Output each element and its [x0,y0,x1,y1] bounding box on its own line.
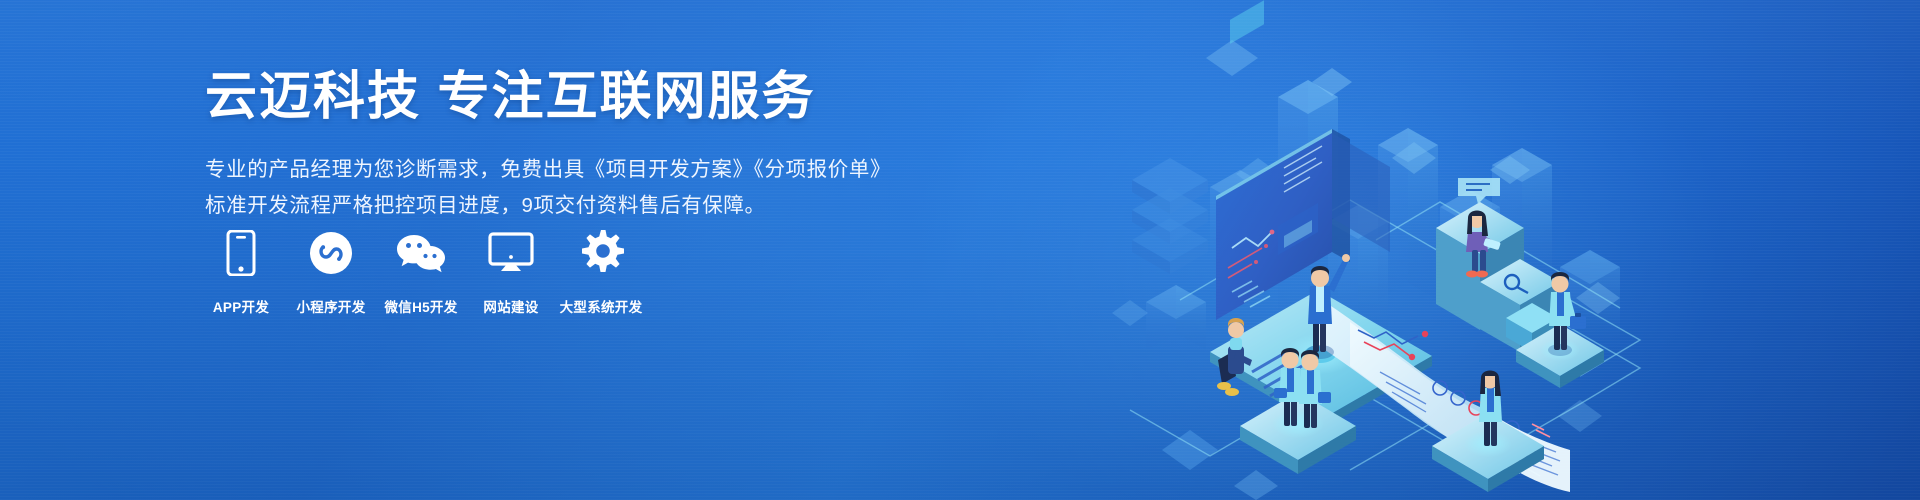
service-list: APP开发 小程序开发 [205,228,637,316]
service-item-large-system[interactable]: 大型系统开发 [565,228,637,316]
mini-program-icon [309,228,353,278]
isometric-team-analytics-illustration [880,0,1920,500]
service-label: APP开发 [213,296,269,316]
service-label: 网站建设 [483,296,538,316]
service-item-wechat-h5[interactable]: 微信H5开发 [385,228,457,316]
promo-banner: 云迈科技 专注互联网服务 专业的产品经理为您诊断需求，免费出具《项目开发方案》《… [0,0,1920,500]
service-label: 大型系统开发 [560,296,643,316]
banner-copy: 云迈科技 专注互联网服务 专业的产品经理为您诊断需求，免费出具《项目开发方案》《… [205,68,905,224]
mobile-phone-icon [226,228,256,278]
service-item-website[interactable]: 网站建设 [475,228,547,316]
service-item-mini-program[interactable]: 小程序开发 [295,228,367,316]
subtitle-line-1: 专业的产品经理为您诊断需求，免费出具《项目开发方案》《分项报价单》 [205,152,905,188]
banner-subtitle: 专业的产品经理为您诊断需求，免费出具《项目开发方案》《分项报价单》 标准开发流程… [205,152,905,224]
subtitle-line-2: 标准开发流程严格把控项目进度，9项交付资料售后有保障。 [205,188,905,224]
wechat-icon [396,228,446,278]
service-label: 微信H5开发 [384,296,457,316]
gear-icon [578,228,624,278]
service-label: 小程序开发 [297,296,366,316]
service-item-app[interactable]: APP开发 [205,228,277,316]
stacked-blocks [1132,158,1208,274]
monitor-icon [488,228,534,278]
page-title: 云迈科技 专注互联网服务 [205,68,905,128]
